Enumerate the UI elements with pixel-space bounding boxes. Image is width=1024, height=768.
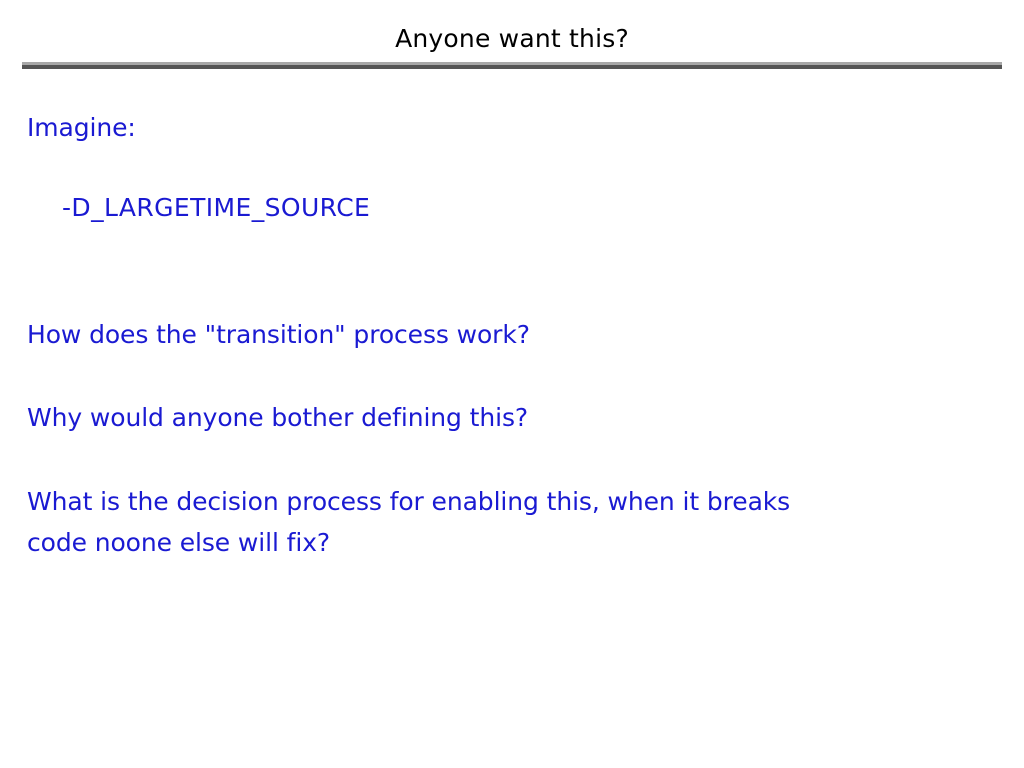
compiler-define-flag: -D_LARGETIME_SOURCE: [62, 188, 370, 228]
question-decision-process: What is the decision process for enablin…: [27, 481, 887, 563]
question-decision-process-line-1: What is the decision process for enablin…: [27, 481, 887, 522]
page-title: Anyone want this?: [0, 24, 1024, 54]
divider-shadow: [22, 65, 1002, 69]
question-why-define: Why would anyone bother defining this?: [27, 398, 528, 438]
question-decision-process-line-2: code noone else will fix?: [27, 522, 887, 563]
question-transition-process: How does the "transition" process work?: [27, 315, 530, 355]
title-divider: [22, 62, 1002, 69]
imagine-label: Imagine:: [27, 108, 136, 148]
slide: Anyone want this? Imagine: -D_LARGETIME_…: [0, 0, 1024, 768]
